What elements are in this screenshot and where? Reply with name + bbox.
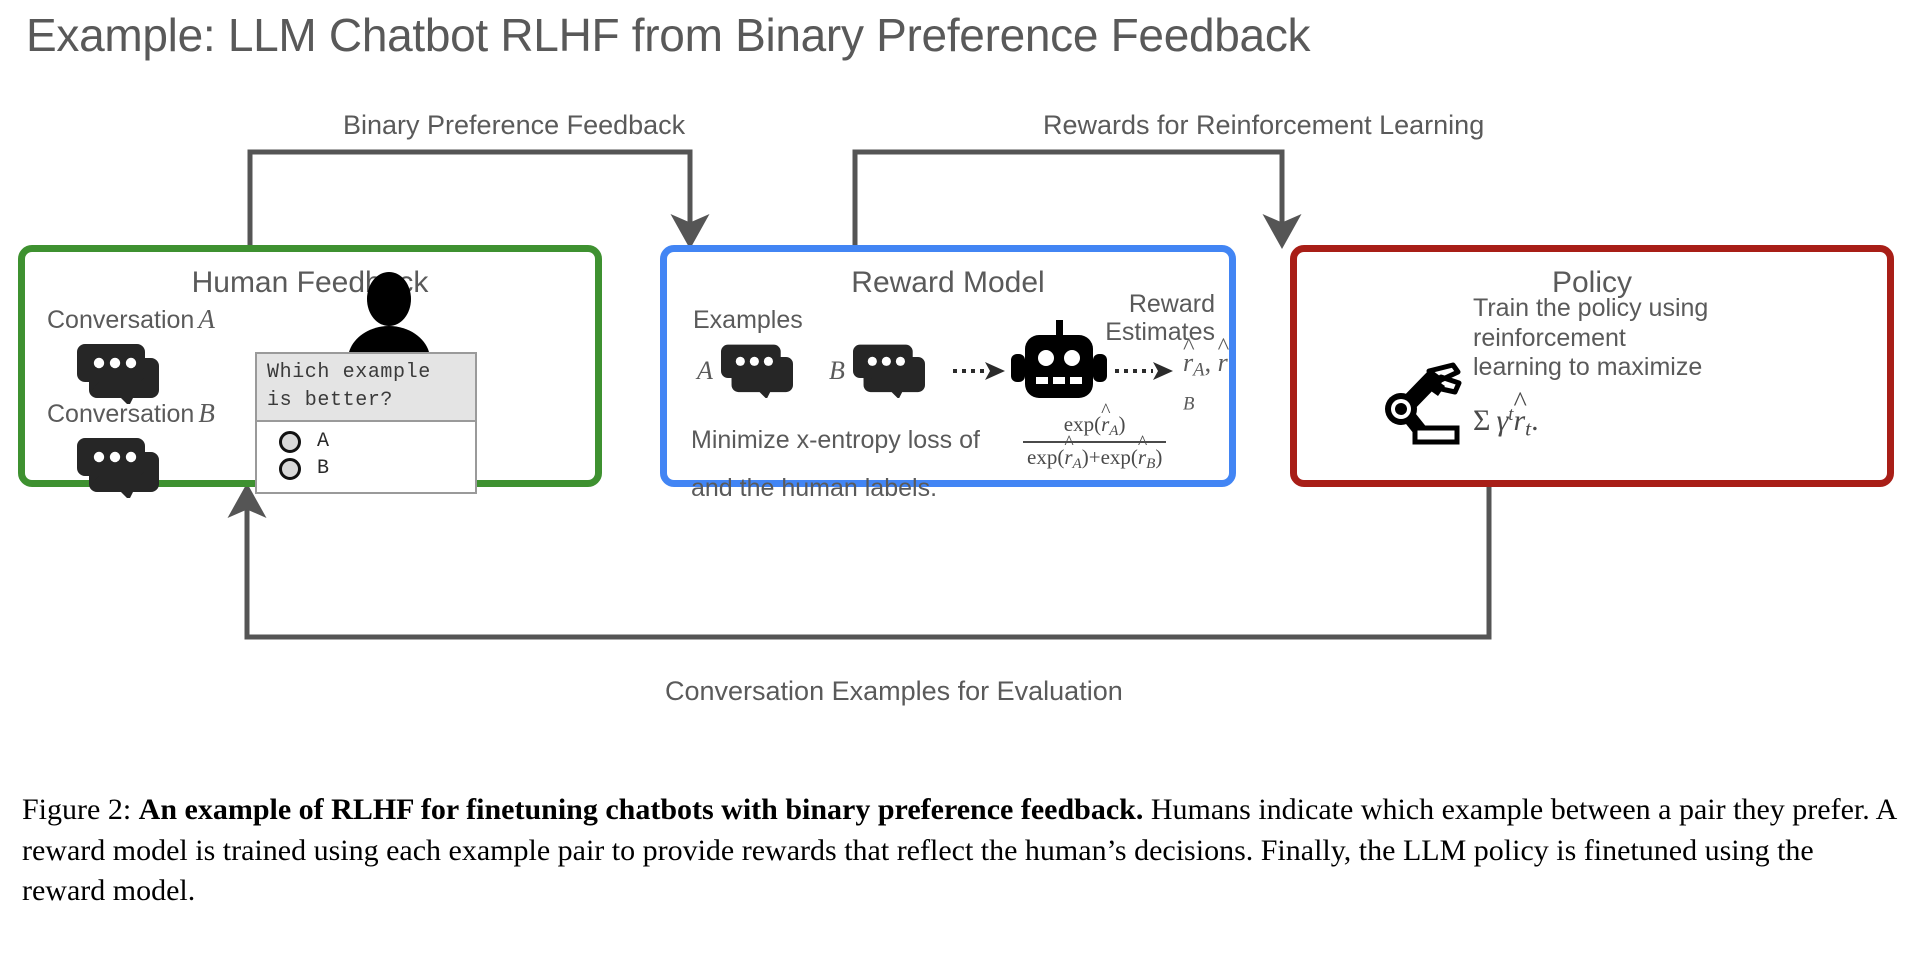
figure-caption: Figure 2: An example of RLHF for finetun… (22, 790, 1896, 912)
arrow-human-to-reward (250, 152, 690, 252)
chat-bubbles-icon (77, 438, 159, 498)
arrow-label-conversation-examples: Conversation Examples for Evaluation (665, 676, 1123, 707)
conversation-a-label: ConversationA (47, 304, 215, 335)
loss-text-line2: and the human labels. (691, 474, 937, 503)
loss-text-line1: Minimize x-entropy loss of (691, 426, 980, 455)
radio-icon[interactable] (279, 458, 301, 480)
radio-option-b-label: B (317, 457, 329, 480)
chat-bubbles-icon (721, 344, 793, 398)
chat-bubbles-icon (853, 344, 925, 398)
conversation-a-symbol: A (194, 304, 215, 334)
policy-description-line2: reinforcement (1473, 324, 1773, 354)
radio-option-b[interactable]: B (257, 455, 475, 482)
caption-figure-number: Figure 2: (22, 793, 131, 826)
person-silhouette-icon (343, 272, 435, 358)
example-b-symbol: B (829, 356, 845, 386)
policy-description-line1: Train the policy using (1473, 294, 1773, 324)
caption-bold-part: An example of RLHF for finetuning chatbo… (139, 793, 1144, 826)
radio-option-a[interactable]: A (257, 428, 475, 455)
conversation-b-text: Conversation (47, 400, 194, 428)
dotted-arrow-icon (1113, 360, 1175, 382)
figure-canvas: Example: LLM Chatbot RLHF from Binary Pr… (0, 0, 1912, 976)
dialog-question-line1: Which example (267, 359, 467, 387)
dialog-question: Which example is better? (257, 354, 475, 422)
reward-model-box: Reward Model Examples Reward Estimates A… (660, 245, 1236, 487)
dialog-options: A B (257, 422, 475, 492)
policy-description: Train the policy using reinforcement lea… (1473, 294, 1773, 383)
human-feedback-title: Human Feedback (25, 266, 595, 300)
conversation-b-label: ConversationB (47, 398, 215, 429)
example-a-symbol: A (697, 356, 713, 386)
softmax-fraction: exp(^rA) exp(^rA)+exp(^rB) (1023, 412, 1166, 473)
radio-icon[interactable] (279, 431, 301, 453)
policy-box: Policy Train the policy using reinforcem… (1290, 245, 1894, 487)
conversation-b-symbol: B (194, 398, 215, 428)
fraction-denominator: exp(^rA)+exp(^rB) (1023, 443, 1166, 473)
dialog-question-line2: is better? (267, 387, 467, 415)
arrow-label-rewards-for-rl: Rewards for Reinforcement Learning (1043, 110, 1484, 141)
chat-bubbles-icon (77, 344, 159, 404)
policy-description-line3: learning to maximize (1473, 353, 1773, 383)
reward-estimate-values: ^rA, ^rB (1183, 348, 1229, 415)
arrow-label-binary-preference-feedback: Binary Preference Feedback (343, 110, 685, 141)
reward-estimates-line1: Reward (1105, 290, 1215, 318)
arrow-reward-to-policy (855, 152, 1282, 252)
robot-icon (1009, 320, 1109, 404)
policy-objective-formula: Σ γt^rt. (1473, 404, 1539, 442)
robot-arm-icon (1379, 362, 1467, 446)
arrow-policy-to-human (247, 480, 1489, 637)
conversation-a-text: Conversation (47, 306, 194, 334)
human-feedback-box: Human Feedback ConversationA Conversatio… (18, 245, 602, 487)
examples-label: Examples (693, 306, 803, 335)
reward-estimates-label: Reward Estimates (1105, 290, 1215, 346)
reward-estimates-line2: Estimates (1105, 318, 1215, 346)
preference-dialog[interactable]: Which example is better? A B (255, 352, 477, 494)
dotted-arrow-icon (951, 360, 1007, 382)
radio-option-a-label: A (317, 430, 329, 453)
